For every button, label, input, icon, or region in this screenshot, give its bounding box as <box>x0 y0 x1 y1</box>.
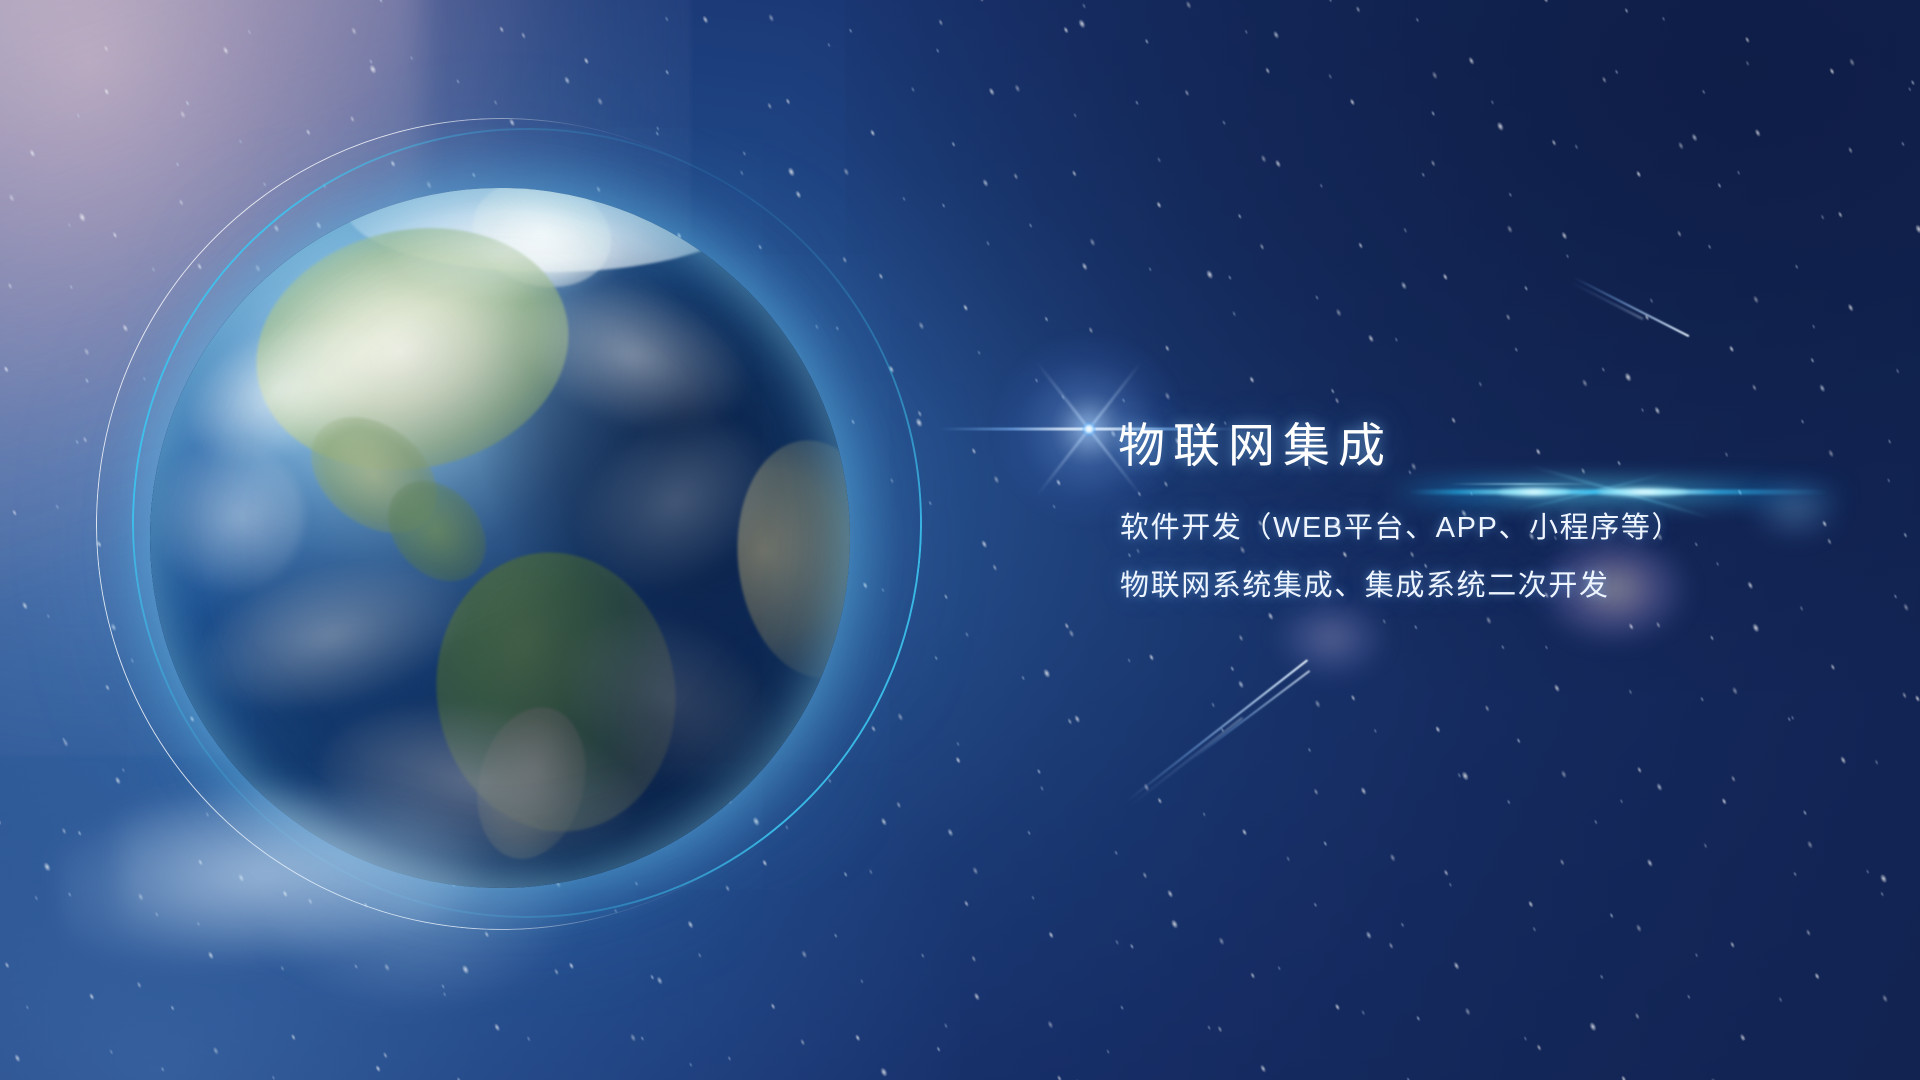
banner-text-block: 物联网集成 软件开发（WEB平台、APP、小程序等） 物联网系统集成、集成系统二… <box>1118 418 1682 613</box>
banner-stage: 物联网集成 软件开发（WEB平台、APP、小程序等） 物联网系统集成、集成系统二… <box>0 0 1920 1080</box>
banner-subtitle: 软件开发（WEB平台、APP、小程序等） 物联网系统集成、集成系统二次开发 <box>1120 503 1682 612</box>
subtitle-line-2: 物联网系统集成、集成系统二次开发 <box>1120 561 1682 613</box>
page-title: 物联网集成 <box>1118 418 1682 473</box>
globe-reflection-mist-soft <box>120 780 500 960</box>
subtitle-line-1: 软件开发（WEB平台、APP、小程序等） <box>1120 503 1682 555</box>
